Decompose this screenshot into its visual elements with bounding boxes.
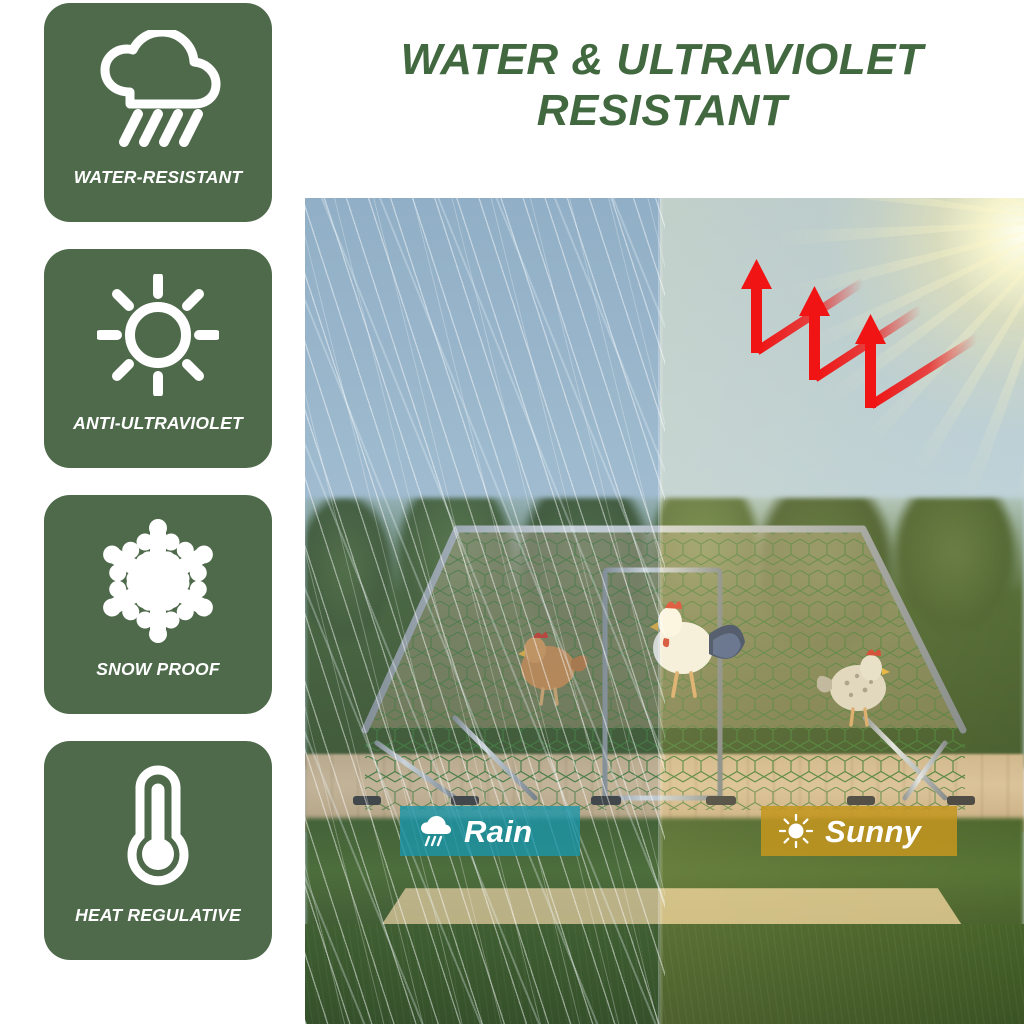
feature-card-snow-proof[interactable]: SNOW PROOF	[44, 495, 272, 714]
uv-deflection-arrows	[705, 253, 1005, 453]
weather-badge-label: Rain	[464, 816, 532, 847]
thermometer-icon	[88, 761, 228, 893]
sun-icon	[88, 269, 228, 401]
headline-line-2: RESISTANT	[300, 85, 1024, 136]
product-photo: Rain Sunny	[305, 198, 1024, 1024]
sun-icon	[779, 814, 813, 848]
scene-divider	[658, 198, 663, 1024]
feature-card-column: WATER-RESISTANT ANTI-ULTRAVIOLET	[44, 3, 272, 1021]
weather-badge-sunny[interactable]: Sunny	[761, 806, 957, 856]
headline-line-1: WATER & ULTRAVIOLET	[300, 34, 1024, 85]
feature-card-label: HEAT REGULATIVE	[75, 905, 241, 926]
page-title: WATER & ULTRAVIOLET RESISTANT	[300, 34, 1024, 136]
feature-card-label: WATER-RESISTANT	[74, 167, 243, 188]
feature-card-label: ANTI-ULTRAVIOLET	[73, 413, 243, 434]
rain-streaks-secondary	[305, 198, 665, 1024]
rain-cloud-icon	[88, 23, 228, 155]
rain-cloud-icon	[418, 814, 452, 848]
feature-card-water-resistant[interactable]: WATER-RESISTANT	[44, 3, 272, 222]
feature-card-anti-ultraviolet[interactable]: ANTI-ULTRAVIOLET	[44, 249, 272, 468]
feature-card-label: SNOW PROOF	[96, 659, 220, 680]
weather-badge-label: Sunny	[825, 816, 921, 847]
weather-badge-rain[interactable]: Rain	[400, 806, 580, 856]
snowflake-icon	[88, 515, 228, 647]
feature-card-heat-regulative[interactable]: HEAT REGULATIVE	[44, 741, 272, 960]
